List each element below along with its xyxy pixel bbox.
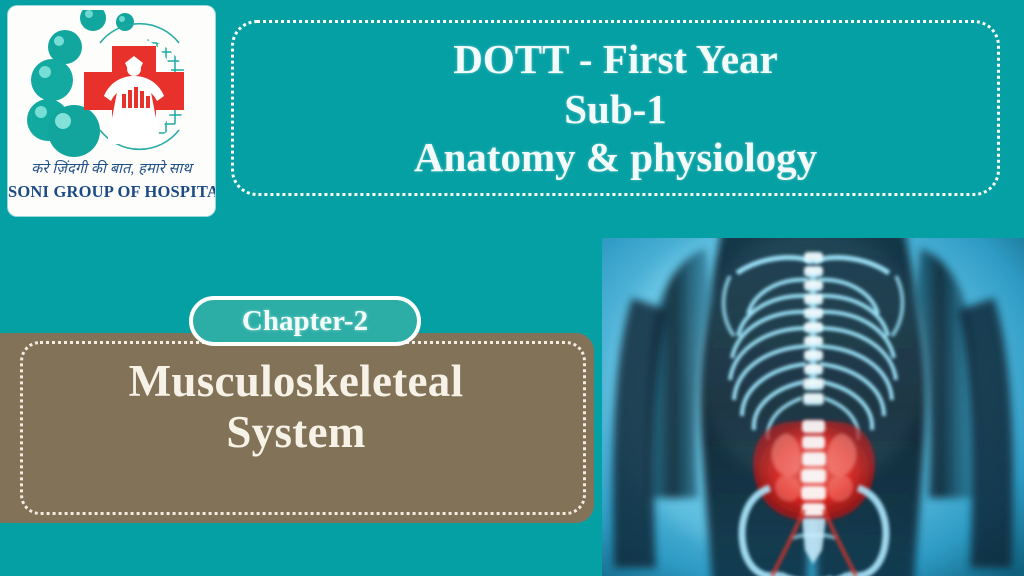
hospital-cross-nurse-logo-icon [8, 10, 215, 160]
header-title-line-1: DOTT - First Year [453, 37, 778, 81]
logo-organization-name: SONI GROUP OF HOSPITALS [8, 182, 215, 202]
hospital-logo-card: करे ज़िंदगी की बात, हमारे साथ SONI GROUP… [8, 6, 215, 216]
anatomy-xray-image [602, 238, 1024, 576]
header-title-line-3: Anatomy & physiology [414, 135, 817, 179]
chapter-badge-label: Chapter-2 [242, 305, 368, 338]
content-title: Musculoskeleteal System [6, 356, 586, 459]
header-title-box: DOTT - First Year Sub-1 Anatomy & physio… [231, 20, 1000, 196]
header-title-line-2: Sub-1 [564, 87, 667, 131]
content-title-line-2: System [6, 407, 586, 458]
logo-tagline: करे ज़िंदगी की बात, हमारे साथ [8, 158, 215, 178]
content-title-line-1: Musculoskeleteal [6, 356, 586, 407]
slide-canvas: करे ज़िंदगी की बात, हमारे साथ SONI GROUP… [0, 0, 1024, 576]
chapter-badge: Chapter-2 [189, 296, 421, 346]
